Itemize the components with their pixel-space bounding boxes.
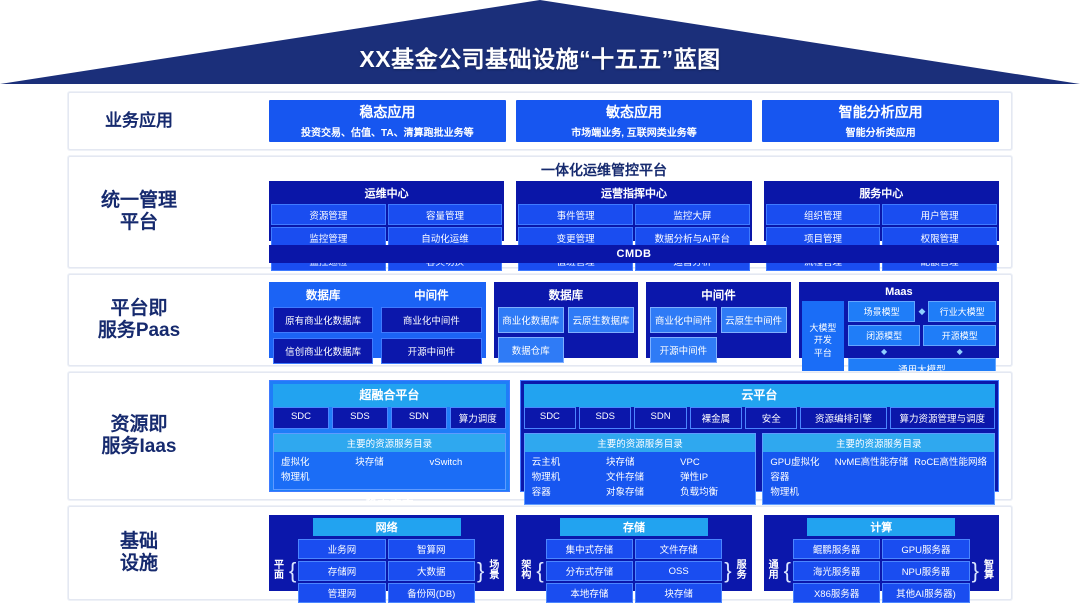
row-label-iaas-line2: 服务Iaas <box>102 436 177 458</box>
catalog-item: 物理机 <box>770 487 828 499</box>
business-card-title: 敏态应用 <box>606 103 662 121</box>
maas-model-dev-platform[interactable]: 大模型 开发 平台 <box>802 301 844 380</box>
cloud-resource-catalog-left: 主要的资源服务目录 云主机 物理机 容器 块存储 文件存储 <box>524 433 757 505</box>
paas-item[interactable]: 商业化中间件 <box>381 307 481 333</box>
business-card-stable[interactable]: 稳态应用 投资交易、估值、TA、清算跑批业务等 <box>269 100 506 142</box>
cloud-platform[interactable]: 云平台 SDC SDS SDN 裸金属 安全 资源编排引擎 算力资源管理与调度 … <box>520 380 999 492</box>
row-unified-management-platform: 统一管理 平台 一体化运维管控平台 运维中心 资源管理 容量管理 监控管理 自动… <box>68 156 1012 268</box>
paas-agile-middleware[interactable]: 中间件 商业化中间件 云原生中间件 开源中间件 <box>646 282 791 358</box>
row-body-management: 一体化运维管控平台 运维中心 资源管理 容量管理 监控管理 自动化运维 监控巡检… <box>209 157 1011 267</box>
maas-left-line2: 开发 <box>809 334 836 346</box>
paas-item[interactable]: 云原生数据库 <box>568 307 634 333</box>
catalog-item: 虚拟化 <box>281 457 349 469</box>
infra-left-label: 平面 <box>271 561 287 582</box>
catalog-item: vSwitch <box>430 457 498 469</box>
title-banner: XX基金公司基础设施“十五五”蓝图 <box>0 0 1080 84</box>
management-platform-header: 一体化运维管控平台 <box>209 160 999 180</box>
infra-cell[interactable]: 管理网 <box>298 583 385 603</box>
catalog-item: 容器 <box>532 487 600 499</box>
catalog-title: 主要的资源服务目录 <box>274 434 505 452</box>
row-body-iaas: 超融合平台 SDC SDS SDN 算力调度 主要的资源服务目录 虚拟化 <box>209 373 1011 499</box>
paas-item-placeholder <box>721 337 787 363</box>
infra-cell[interactable]: 智算网 <box>388 539 475 559</box>
catalog-item: 物理机 <box>532 472 600 484</box>
infra-left-label-text: 架构 <box>518 561 534 582</box>
row-label-infra-line1: 基础 <box>120 531 158 553</box>
business-card-subtitle: 投资交易、估值、TA、清算跑批业务等 <box>301 124 474 139</box>
paas-item[interactable]: 信创商业化数据库 <box>273 338 373 364</box>
catalog-item: 块存储 <box>355 457 423 469</box>
maas-chip-scene-model[interactable]: 场景模型 <box>848 301 916 322</box>
infra-right-label: 服务 <box>734 561 750 582</box>
center-title: 运营指挥中心 <box>518 183 749 204</box>
maas-title: Maas <box>802 285 996 301</box>
catalog-item: 负载均衡 <box>680 487 748 499</box>
row-label-paas: 平台即 服务Paas <box>69 275 209 365</box>
row-iaas: 资源即 服务Iaas 超融合平台 SDC SDS SDN 算力调度 <box>68 372 1012 500</box>
row-label-paas-line2: 服务Paas <box>98 320 180 342</box>
business-card-intelligent-analytics[interactable]: 智能分析应用 智能分析类应用 <box>762 100 999 142</box>
cloud-tag[interactable]: SDC <box>524 407 576 429</box>
blueprint-page: XX基金公司基础设施“十五五”蓝图 业务应用 稳态应用 投资交易、估值、TA、清… <box>0 0 1080 608</box>
infra-card-title: 计算 <box>807 518 955 536</box>
infra-card-title: 网络 <box>313 518 461 536</box>
hci-platform[interactable]: 超融合平台 SDC SDS SDN 算力调度 主要的资源服务目录 虚拟化 <box>269 380 510 492</box>
infra-card-network[interactable]: 网络 平面 { 业务网 智算网 存储网 大数据 管理网 备份网(DB) <box>269 515 504 591</box>
left-arrow-icon: ◆ <box>918 306 925 317</box>
infra-cell[interactable]: 本地存储 <box>546 583 633 603</box>
row-label-iaas: 资源即 服务Iaas <box>69 373 209 499</box>
paas-group-title: 中间件 <box>650 286 787 307</box>
center-operations-command[interactable]: 运营指挥中心 事件管理 监控大屏 变更管理 数据分析与AI平台 值班管理 运营分… <box>516 181 751 241</box>
paas-item[interactable]: 商业化数据库 <box>498 307 564 333</box>
infra-right-label-text: 服务 <box>734 561 750 582</box>
catalog-column: 块存储 文件存储 对象存储 <box>606 457 674 499</box>
business-card-title: 稳态应用 <box>359 103 415 121</box>
row-label-management-line1: 统一管理 <box>101 190 177 212</box>
center-cell[interactable]: 组织管理 <box>766 204 881 225</box>
right-brace-icon: } <box>972 560 979 582</box>
row-label-management: 统一管理 平台 <box>69 157 209 267</box>
cloud-tag[interactable]: 裸金属 <box>690 407 742 429</box>
center-cell[interactable]: 容量管理 <box>388 204 503 225</box>
paas-item[interactable]: 商业化中间件 <box>650 307 716 333</box>
catalog-column: 块存储 <box>355 457 423 484</box>
hci-tag[interactable]: SDC <box>273 407 329 429</box>
infra-cell[interactable]: 存储网 <box>298 561 385 581</box>
center-title: 服务中心 <box>766 183 997 204</box>
row-business-application: 业务应用 稳态应用 投资交易、估值、TA、清算跑批业务等 敏态应用 市场端业务,… <box>68 92 1012 150</box>
row-body-infrastructure: 网络 平面 { 业务网 智算网 存储网 大数据 管理网 备份网(DB) <box>209 507 1011 599</box>
row-label-business: 业务应用 <box>69 93 209 149</box>
infra-right-label: 智算 <box>981 561 997 582</box>
cloud-tag[interactable]: 资源编排引擎 <box>800 407 886 429</box>
infra-right-label: 场景 <box>486 561 502 582</box>
infra-cell[interactable]: 业务网 <box>298 539 385 559</box>
catalog-item: 云主机 <box>532 457 600 469</box>
hci-tag[interactable]: 算力调度 <box>450 407 506 429</box>
maas-row-scene: 场景模型 ◆ 行业大模型 <box>848 301 996 322</box>
business-card-subtitle: 市场端业务, 互联网类业务等 <box>571 124 697 139</box>
maas-chip-closed-source[interactable]: 闭源模型 <box>848 325 921 346</box>
cloud-tag[interactable]: 安全 <box>745 407 797 429</box>
cloud-tag[interactable]: 算力资源管理与调度 <box>890 407 995 429</box>
row-label-paas-line1: 平台即 <box>98 298 180 320</box>
row-body-business: 稳态应用 投资交易、估值、TA、清算跑批业务等 敏态应用 市场端业务, 互联网类… <box>209 93 1011 149</box>
left-brace-icon: { <box>536 560 543 582</box>
infra-card-compute[interactable]: 计算 通用 { 鲲鹏服务器 GPU服务器 海光服务器 NPU服务器 X86服务器 <box>764 515 999 591</box>
catalog-item: NvME高性能存储 <box>835 457 908 469</box>
center-title: 运维中心 <box>271 183 502 204</box>
infra-cell[interactable]: 海光服务器 <box>793 561 880 581</box>
paas-item[interactable]: 开源中间件 <box>650 337 716 363</box>
paas-stable-middleware[interactable]: 中间件 商业化中间件 开源中间件 <box>381 286 481 354</box>
catalog-column: 云主机 物理机 容器 <box>532 457 600 499</box>
catalog-column: VPC 弹性IP 负载均衡 <box>680 457 748 499</box>
left-brace-icon: { <box>784 560 791 582</box>
cloud-tag[interactable]: SDN <box>634 407 686 429</box>
maas-row-source: 闭源模型 开源模型 <box>848 325 996 346</box>
catalog-title: 主要的资源服务目录 <box>525 434 756 452</box>
cloud-tag[interactable]: SDS <box>579 407 631 429</box>
catalog-item: 块存储 <box>606 457 674 469</box>
infra-card-title: 存储 <box>560 518 708 536</box>
infra-card-storage[interactable]: 存储 架构 { 集中式存储 文件存储 分布式存储 OSS 本地存储 块存储 <box>516 515 751 591</box>
maas-chip-industry-model[interactable]: 行业大模型 <box>928 301 996 322</box>
business-card-agile[interactable]: 敏态应用 市场端业务, 互联网类业务等 <box>516 100 753 142</box>
infra-cell[interactable]: GPU服务器 <box>882 539 969 559</box>
business-card-title: 智能分析应用 <box>839 103 923 121</box>
catalog-column: 虚拟化 物理机 <box>281 457 349 484</box>
infra-left-label: 通用 <box>766 561 782 582</box>
paas-group-title: 数据库 <box>498 286 635 307</box>
paas-stable-group: 数据库 原有商业化数据库 信创商业化数据库 中间件 商业化中间件 开源中间件 <box>269 282 486 358</box>
paas-item-placeholder <box>568 337 634 363</box>
row-label-infrastructure: 基础 设施 <box>69 507 209 599</box>
paas-item[interactable]: 原有商业化数据库 <box>273 307 373 333</box>
maas-arrow-row: ◆ ◆ <box>848 349 996 355</box>
hci-resource-catalog: 主要的资源服务目录 虚拟化 物理机 块存储 vSwitc <box>273 433 506 490</box>
row-label-iaas-line1: 资源即 <box>102 414 177 436</box>
infra-cell[interactable]: 块存储 <box>635 583 722 603</box>
cmdb-bar[interactable]: CMDB <box>269 245 999 263</box>
paas-item[interactable]: 云原生中间件 <box>721 307 787 333</box>
paas-item[interactable]: 数据仓库 <box>498 337 564 363</box>
maas-chip-open-source[interactable]: 开源模型 <box>923 325 996 346</box>
paas-group-title: 中间件 <box>381 286 481 307</box>
catalog-item: VPC <box>680 457 748 469</box>
paas-agile-database[interactable]: 数据库 商业化数据库 云原生数据库 数据仓库 <box>494 282 639 358</box>
paas-maas-group[interactable]: Maas 大模型 开发 平台 场景模型 ◆ <box>799 282 999 358</box>
left-brace-icon: { <box>289 560 296 582</box>
catalog-item: 物理机 <box>281 472 349 484</box>
infra-right-label-text: 智算 <box>981 561 997 582</box>
hci-tag[interactable]: SDS <box>332 407 388 429</box>
catalog-column: NvME高性能存储 <box>835 457 908 499</box>
catalog-column: GPU虚拟化 容器 物理机 <box>770 457 828 499</box>
hci-title: 超融合平台 <box>273 384 506 407</box>
cloud-resource-catalog-right: 主要的资源服务目录 GPU虚拟化 容器 物理机 NvME高性能存储 <box>762 433 995 505</box>
center-ops[interactable]: 运维中心 资源管理 容量管理 监控管理 自动化运维 监控巡检 容灾切换 <box>269 181 504 241</box>
business-card-subtitle: 智能分析类应用 <box>846 124 916 139</box>
infra-cell[interactable]: 大数据 <box>388 561 475 581</box>
up-arrow-icon: ◆ <box>848 349 921 355</box>
infra-left-label: 架构 <box>518 561 534 582</box>
catalog-item: GPU虚拟化 <box>770 457 828 469</box>
infra-cell[interactable]: X86服务器 <box>793 583 880 603</box>
row-label-management-line2: 平台 <box>101 212 177 234</box>
infra-cell[interactable]: 集中式存储 <box>546 539 633 559</box>
row-body-paas: 数据库 原有商业化数据库 信创商业化数据库 中间件 商业化中间件 开源中间件 数… <box>209 275 1011 365</box>
center-cell[interactable]: 用户管理 <box>882 204 997 225</box>
up-arrow-icon: ◆ <box>923 349 996 355</box>
infra-cell[interactable]: 其他AI服务器) <box>882 583 969 603</box>
maas-left-line3: 平台 <box>809 347 836 359</box>
catalog-item: 对象存储 <box>606 487 674 499</box>
center-service[interactable]: 服务中心 组织管理 用户管理 项目管理 权限管理 流程管理 配额管理 <box>764 181 999 241</box>
center-cell[interactable]: 资源管理 <box>271 204 386 225</box>
page-title: XX基金公司基础设施“十五五”蓝图 <box>0 40 1080 74</box>
infra-cell[interactable]: OSS <box>635 561 722 581</box>
infra-cell[interactable]: 文件存储 <box>635 539 722 559</box>
catalog-column: vSwitch <box>430 457 498 484</box>
infra-cell[interactable]: 鲲鹏服务器 <box>793 539 880 559</box>
infra-cell[interactable]: NPU服务器 <box>882 561 969 581</box>
infra-left-label-text: 通用 <box>766 561 782 582</box>
catalog-item: 文件存储 <box>606 472 674 484</box>
infra-left-label-text: 平面 <box>271 561 287 582</box>
paas-stable-database[interactable]: 数据库 原有商业化数据库 信创商业化数据库 <box>273 286 373 354</box>
maas-left-line1: 大模型 <box>809 322 836 334</box>
infra-cell[interactable]: 分布式存储 <box>546 561 633 581</box>
catalog-title: 主要的资源服务目录 <box>763 434 994 452</box>
catalog-item: RoCE高性能网络 <box>914 457 987 469</box>
cloud-title: 云平台 <box>524 384 995 407</box>
right-brace-icon: } <box>477 560 484 582</box>
row-label-infra-line2: 设施 <box>120 553 158 575</box>
center-cell[interactable]: 监控大屏 <box>635 204 750 225</box>
catalog-item: 容器 <box>770 472 828 484</box>
catalog-item: 弹性IP <box>680 472 748 484</box>
paas-group-title: 数据库 <box>273 286 373 307</box>
right-brace-icon: } <box>724 560 731 582</box>
row-infrastructure: 基础 设施 网络 平面 { 业务网 智算网 存储网 <box>68 506 1012 600</box>
row-paas: 平台即 服务Paas 数据库 原有商业化数据库 信创商业化数据库 中间件 商业化… <box>68 274 1012 366</box>
center-cell[interactable]: 事件管理 <box>518 204 633 225</box>
infra-right-label-text: 场景 <box>486 561 502 582</box>
catalog-column: RoCE高性能网络 <box>914 457 987 499</box>
paas-item[interactable]: 开源中间件 <box>381 338 481 364</box>
infra-cell[interactable]: 备份网(DB) <box>388 583 475 603</box>
hci-tag[interactable]: SDN <box>391 407 447 429</box>
